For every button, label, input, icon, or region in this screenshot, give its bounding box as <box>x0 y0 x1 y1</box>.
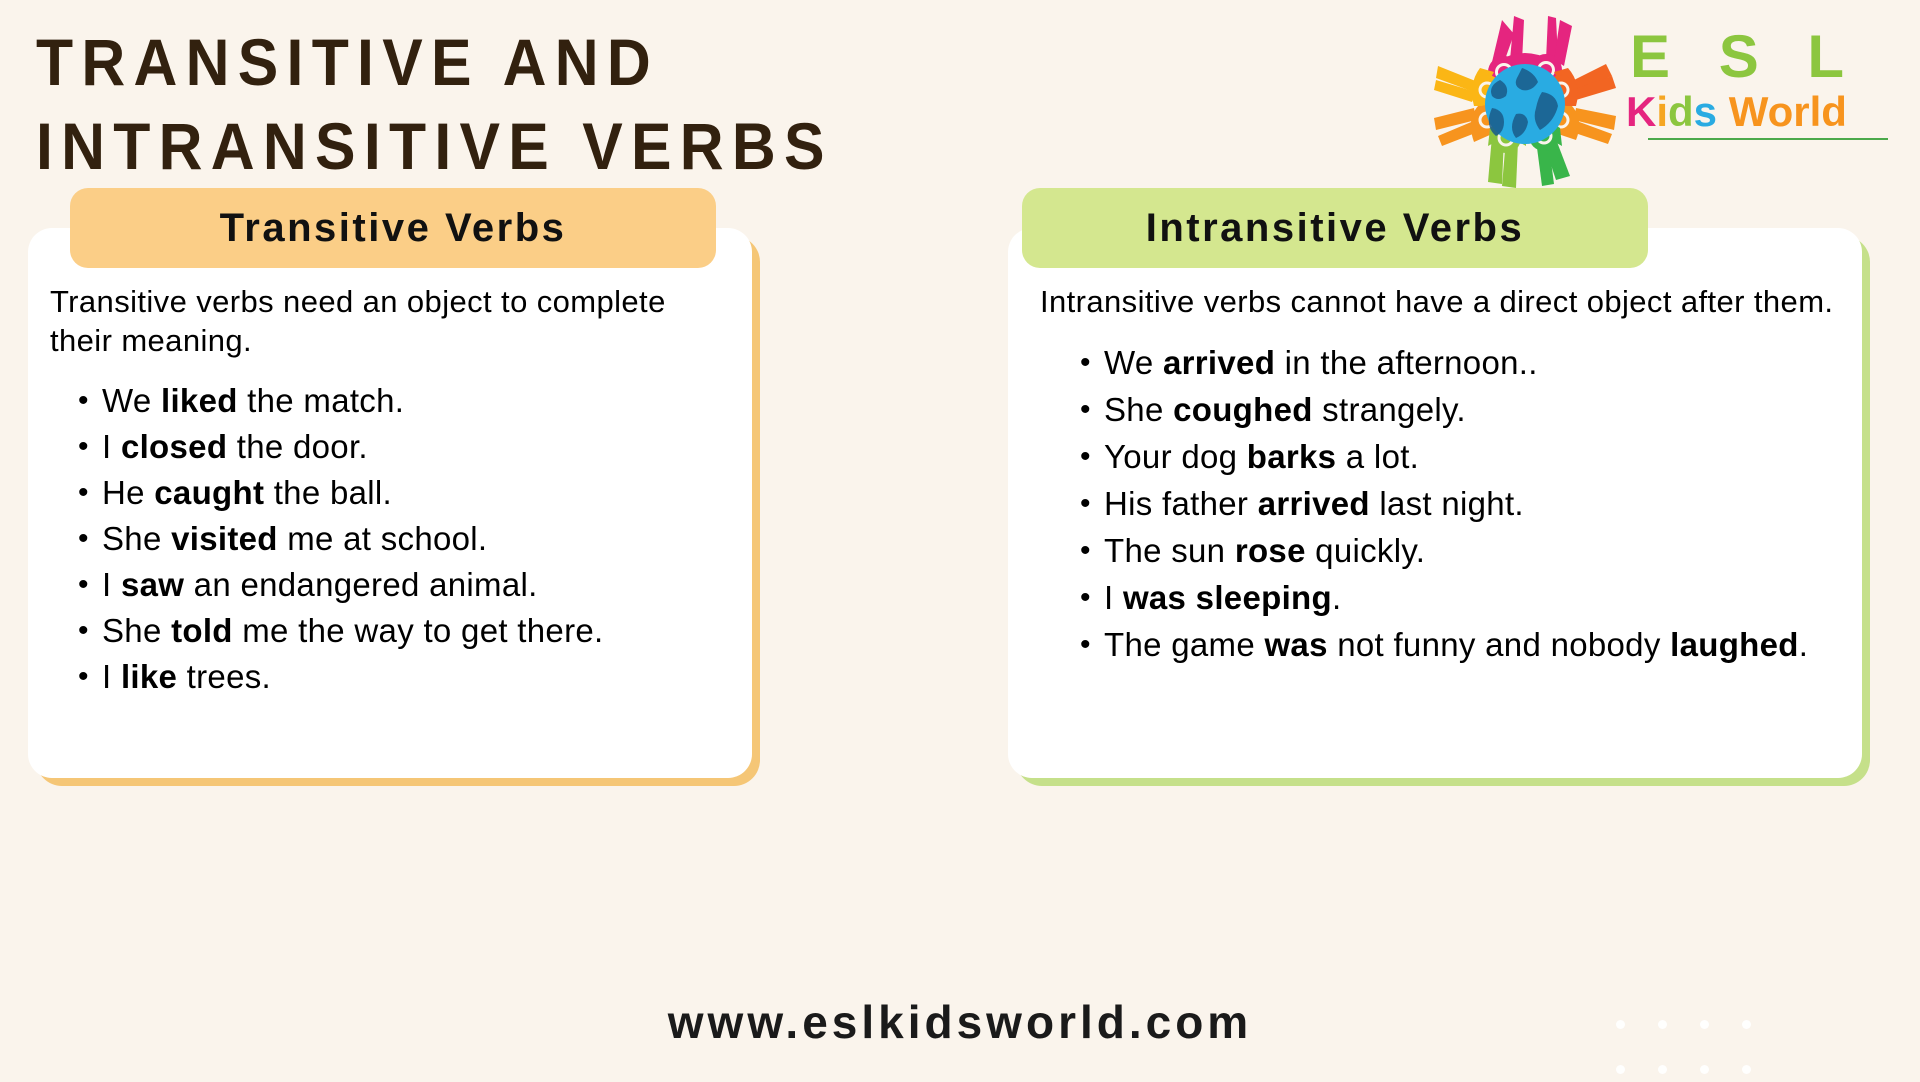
example-text: I <box>102 658 121 695</box>
card-body-intransitive: Intransitive verbs cannot have a direct … <box>1008 228 1862 778</box>
example-list-transitive: We liked the match.I closed the door.He … <box>50 378 732 700</box>
decorative-dot <box>1742 1020 1751 1029</box>
example-text: in the afternoon.. <box>1275 344 1538 381</box>
esl-kids-world-logo[interactable]: E S L Kids World <box>1430 8 1900 188</box>
logo-letter <box>1717 88 1729 135</box>
example-text: me at school. <box>278 520 488 557</box>
example-text: quickly. <box>1306 532 1425 569</box>
example-verb: like <box>121 658 177 695</box>
example-text: She <box>102 612 171 649</box>
example-text: an endangered animal. <box>184 566 537 603</box>
logo-letter: K <box>1626 88 1656 135</box>
example-verb: told <box>171 612 233 649</box>
example-text: trees. <box>177 658 271 695</box>
example-verb: was sleeping <box>1123 579 1332 616</box>
decorative-dot <box>1658 1020 1667 1029</box>
example-verb: caught <box>154 474 264 511</box>
example-text: He <box>102 474 154 511</box>
example-verb: laughed <box>1670 626 1799 663</box>
example-text: The game <box>1104 626 1264 663</box>
example-item: She told me the way to get there. <box>102 608 732 654</box>
example-text: We <box>1104 344 1163 381</box>
example-item: Your dog barks a lot. <box>1104 433 1836 480</box>
example-text: a lot. <box>1336 438 1419 475</box>
logo-kids-world-text: Kids World <box>1626 88 1898 136</box>
example-verb: coughed <box>1173 391 1313 428</box>
decorative-dot <box>1616 1020 1625 1029</box>
example-verb: barks <box>1247 438 1337 475</box>
logo-letter: s <box>1694 88 1717 135</box>
example-text: The sun <box>1104 532 1235 569</box>
example-text: the match. <box>238 382 405 419</box>
example-item: She coughed strangely. <box>1104 386 1836 433</box>
logo-letter: o <box>1768 88 1794 135</box>
example-verb: rose <box>1235 532 1306 569</box>
example-verb: was <box>1264 626 1327 663</box>
example-item: His father arrived last night. <box>1104 480 1836 527</box>
example-text: last night. <box>1370 485 1524 522</box>
example-item: I was sleeping. <box>1104 574 1836 621</box>
example-text: the door. <box>227 428 368 465</box>
example-text: She <box>1104 391 1173 428</box>
example-text: Your dog <box>1104 438 1247 475</box>
decorative-dot <box>1700 1065 1709 1074</box>
example-text: the ball. <box>264 474 392 511</box>
example-item: The game was not funny and nobody laughe… <box>1104 621 1836 668</box>
example-text: I <box>102 428 121 465</box>
example-item: The sun rose quickly. <box>1104 527 1836 574</box>
example-item: He caught the ball. <box>102 470 732 516</box>
example-text: I <box>1104 579 1123 616</box>
page-title: TRANSITIVE AND INTRANSITIVE VERBS <box>36 20 1269 188</box>
children-around-globe-icon <box>1430 10 1620 188</box>
example-text: me the way to get there. <box>233 612 604 649</box>
example-list-intransitive: We arrived in the afternoon..She coughed… <box>1040 339 1836 668</box>
example-text: . <box>1332 579 1341 616</box>
example-verb: visited <box>171 520 278 557</box>
example-item: I like trees. <box>102 654 732 700</box>
card-transitive-verbs: Transitive Verbs Transitive verbs need a… <box>28 228 752 778</box>
logo-letter: W <box>1729 88 1768 135</box>
logo-letter: l <box>1810 88 1822 135</box>
logo-esl-text: E S L <box>1626 26 1898 88</box>
logo-underline <box>1648 138 1888 140</box>
example-verb: arrived <box>1258 485 1370 522</box>
example-text: His father <box>1104 485 1258 522</box>
example-item: We liked the match. <box>102 378 732 424</box>
example-item: I closed the door. <box>102 424 732 470</box>
decorative-dot <box>1658 1065 1667 1074</box>
decorative-dot <box>1700 1020 1709 1029</box>
example-text: I <box>102 566 121 603</box>
logo-letter: r <box>1793 88 1809 135</box>
card-intransitive-verbs: Intransitive Verbs Intransitive verbs ca… <box>1008 228 1862 778</box>
logo-letter: d <box>1821 88 1847 135</box>
example-verb: closed <box>121 428 227 465</box>
page-title-line-2: INTRANSITIVE VERBS <box>36 104 1269 188</box>
example-text: We <box>102 382 161 419</box>
example-verb: arrived <box>1163 344 1275 381</box>
example-text: not funny and nobody <box>1328 626 1670 663</box>
example-item: She visited me at school. <box>102 516 732 562</box>
example-item: I saw an endangered animal. <box>102 562 732 608</box>
example-verb: saw <box>121 566 184 603</box>
example-text: She <box>102 520 171 557</box>
card-intro-transitive: Transitive verbs need an object to compl… <box>50 282 732 360</box>
card-intro-intransitive: Intransitive verbs cannot have a direct … <box>1040 282 1836 321</box>
logo-letter: d <box>1668 88 1694 135</box>
logo-letter: i <box>1656 88 1668 135</box>
example-text: . <box>1799 626 1808 663</box>
example-verb: liked <box>161 382 238 419</box>
example-item: We arrived in the afternoon.. <box>1104 339 1836 386</box>
decorative-dot <box>1616 1065 1625 1074</box>
example-text: strangely. <box>1313 391 1466 428</box>
card-body-transitive: Transitive verbs need an object to compl… <box>28 228 752 778</box>
logo-wordmark: E S L Kids World <box>1626 26 1898 176</box>
page-title-line-1: TRANSITIVE AND <box>36 20 1269 104</box>
dot-pattern-decoration <box>1616 1012 1766 1082</box>
decorative-dot <box>1742 1065 1751 1074</box>
